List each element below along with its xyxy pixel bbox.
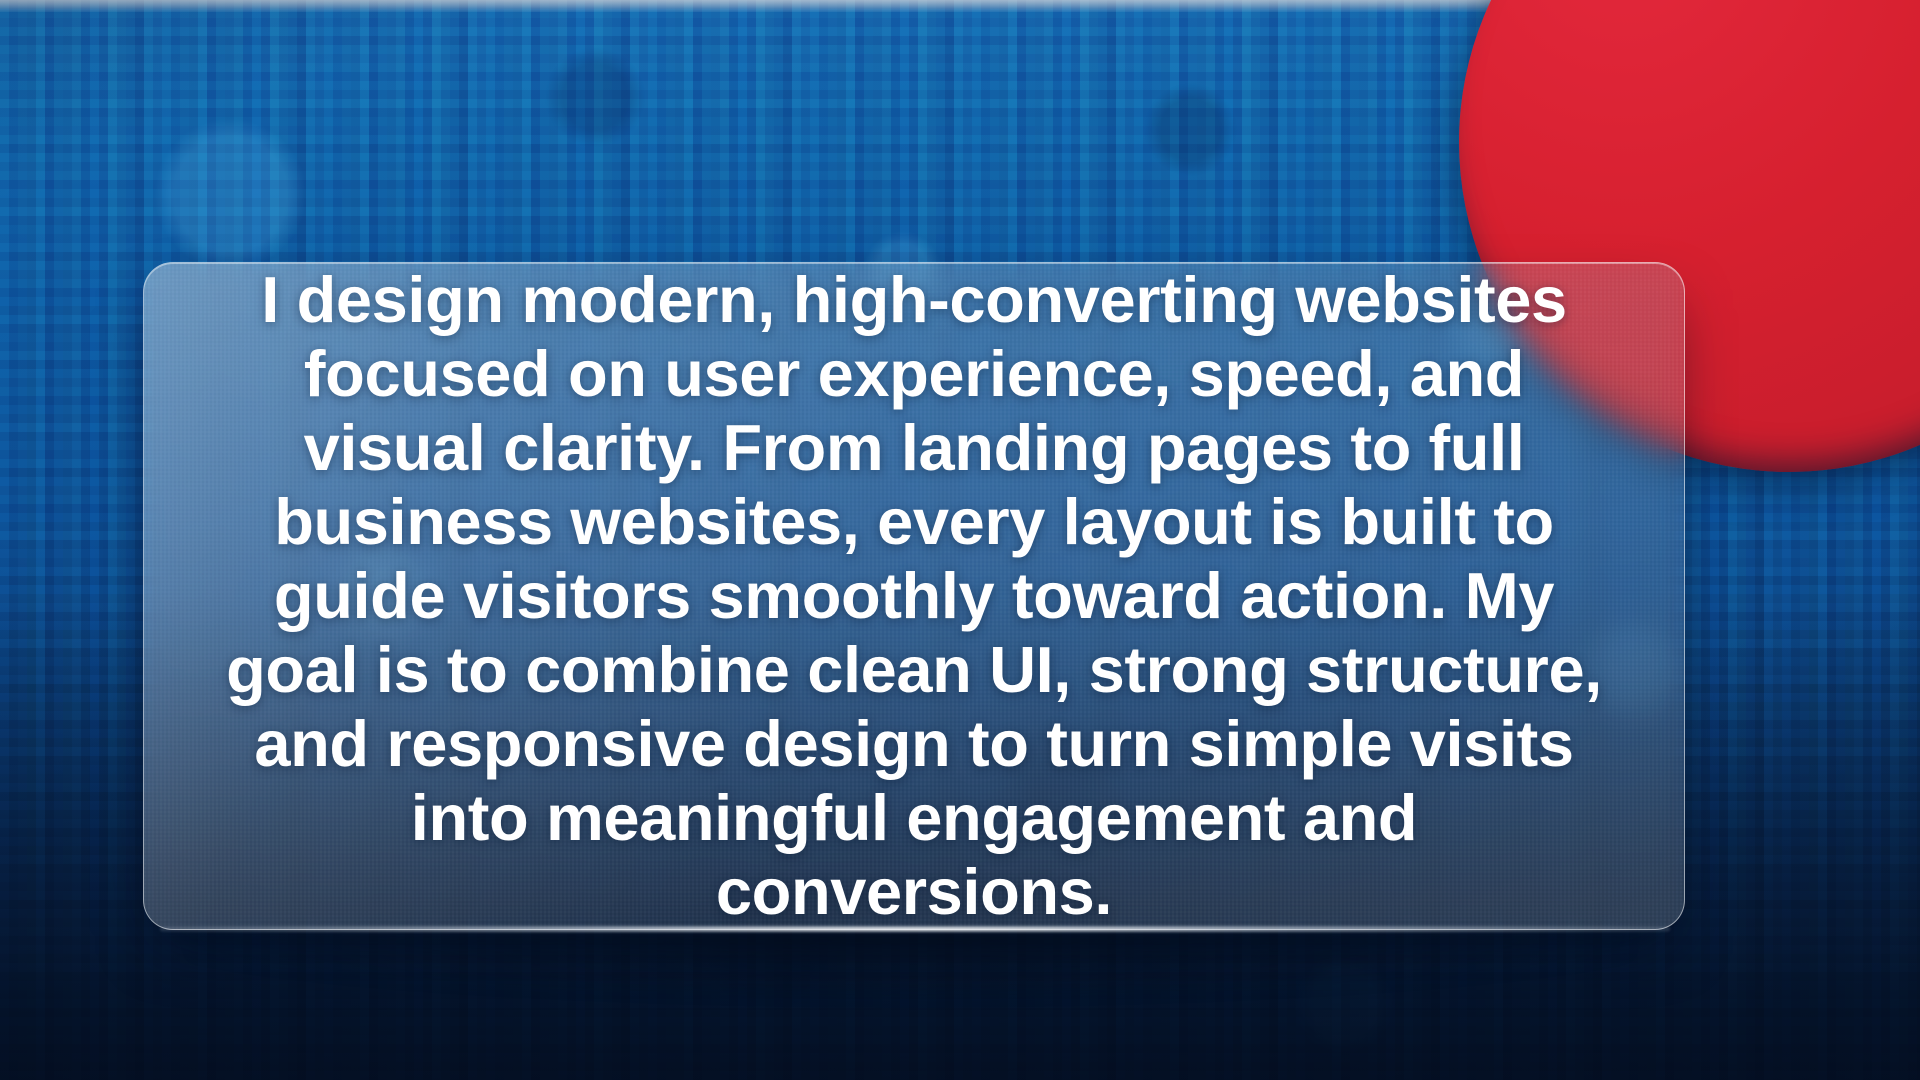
card-bottom-glow-line bbox=[160, 926, 1670, 932]
intro-paragraph: I design modern, high-converting website… bbox=[219, 263, 1609, 929]
glass-content-card: I design modern, high-converting website… bbox=[143, 262, 1685, 930]
slide-canvas: I design modern, high-converting website… bbox=[0, 0, 1920, 1080]
card-drop-shadow bbox=[190, 930, 1630, 1000]
